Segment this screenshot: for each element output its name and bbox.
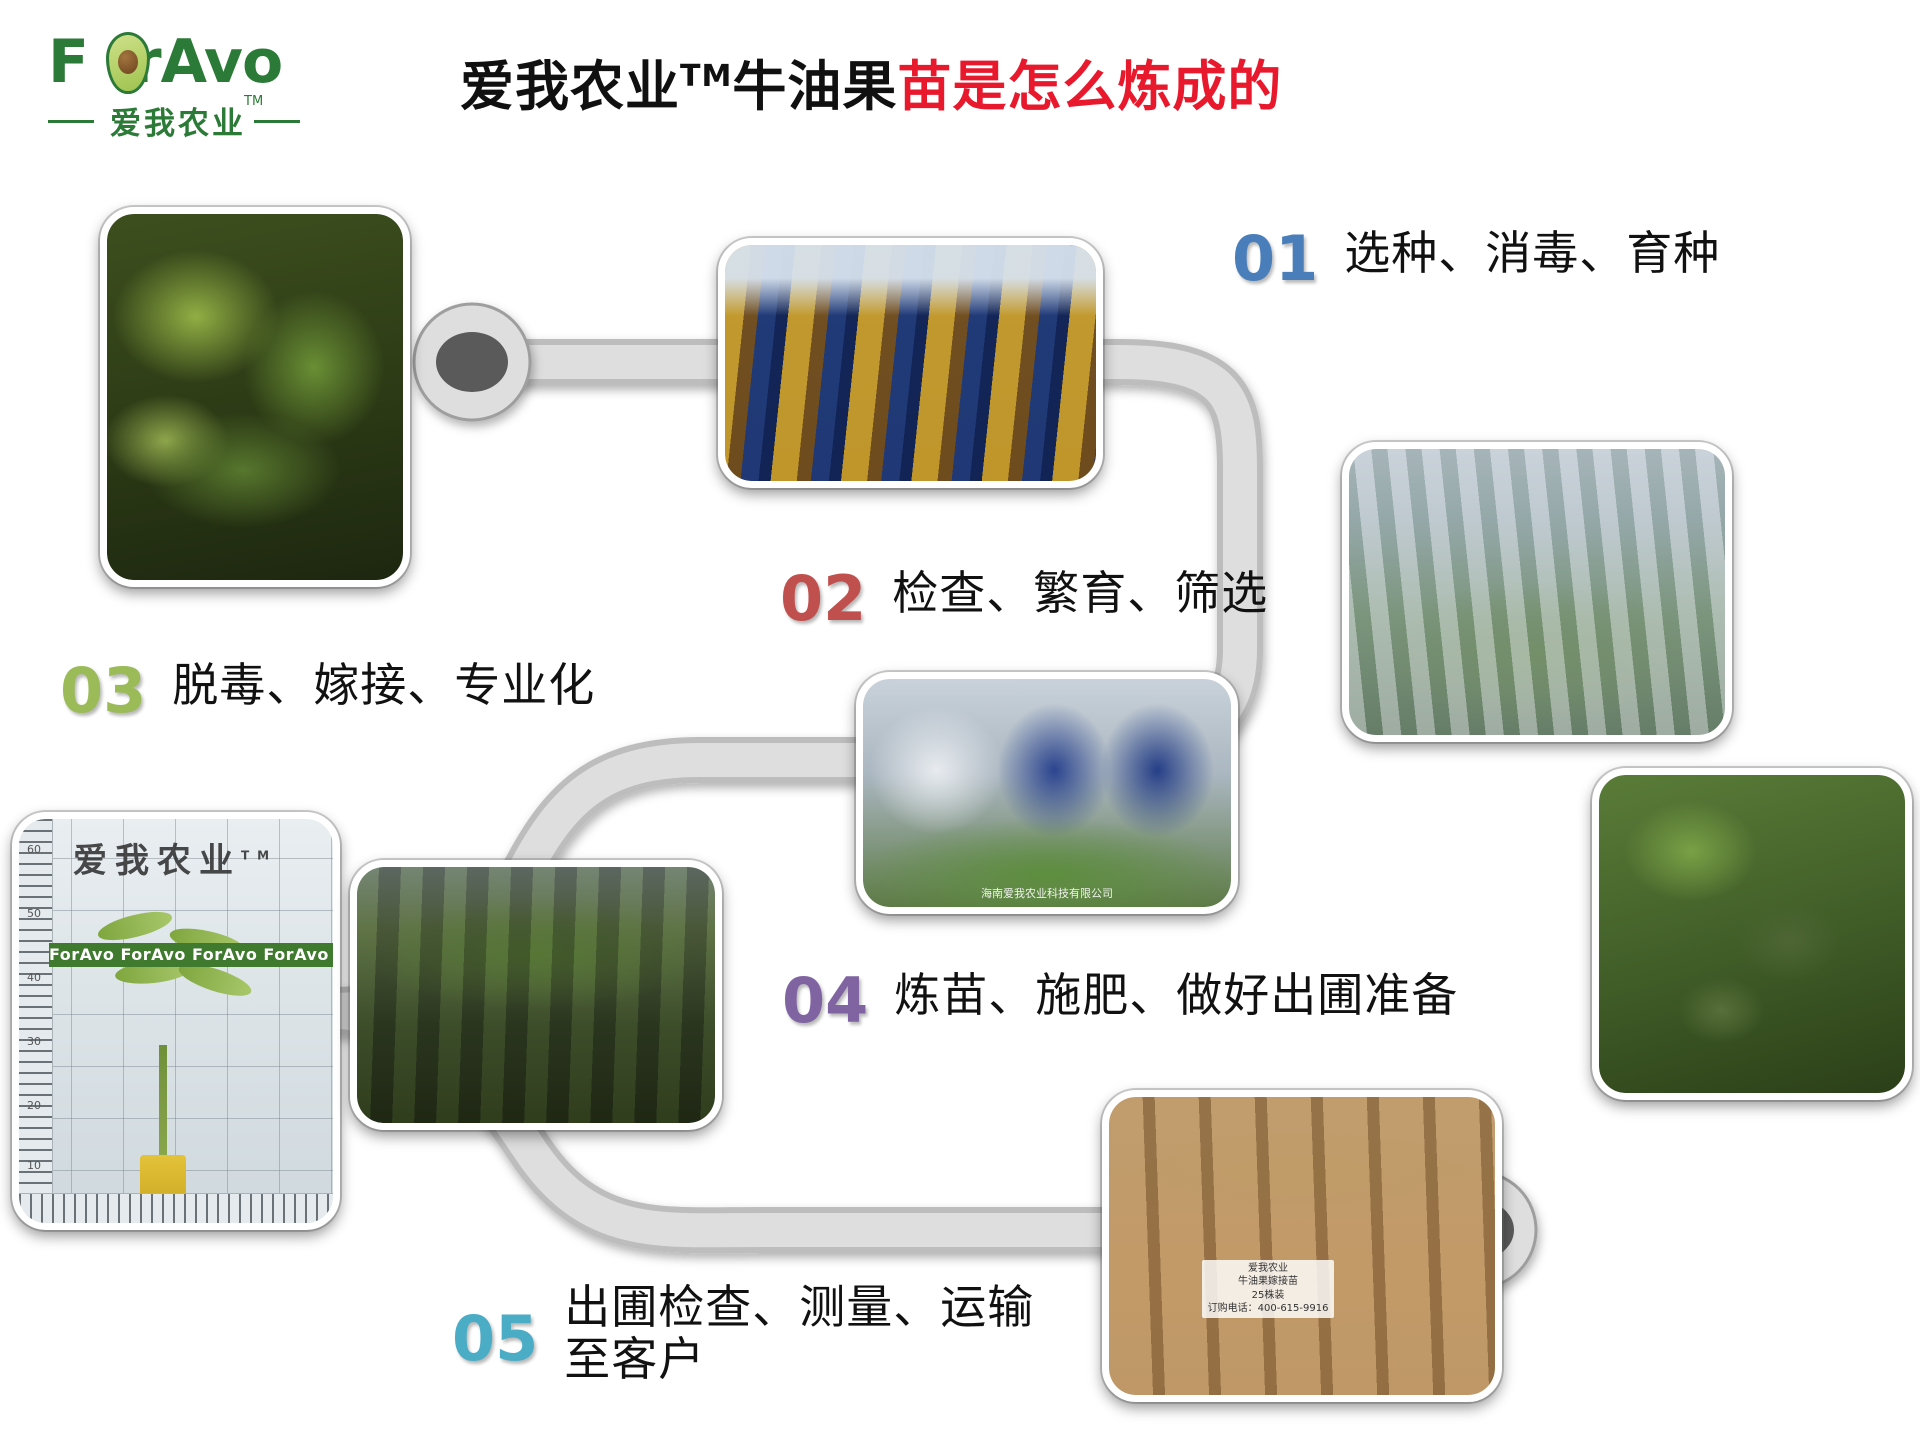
step-05-label-line1: 出圃检查、测量、运输 — [564, 1282, 1034, 1334]
step-01-label: 选种、消毒、育种 — [1344, 228, 1720, 280]
packing-cartons-photo: 爱我农业 牛油果嫁接苗 25株装 订购电话：400-615-9916 — [1102, 1090, 1502, 1402]
step-05-label: 出圃检查、测量、运输 至客户 — [564, 1282, 1034, 1385]
step-03-label: 脱毒、嫁接、专业化 — [172, 660, 595, 712]
seedling-stem — [159, 1045, 167, 1165]
step-04-number: 04 — [782, 970, 868, 1032]
foravo-watermark-band: ForAvo ForAvo ForAvo ForAvo — [49, 943, 333, 967]
seed-trays-photo — [718, 238, 1103, 488]
step-03: 03 脱毒、嫁接、专业化 — [60, 660, 595, 722]
step-05-number: 05 — [452, 1308, 538, 1370]
greenhouse-bagged-rows-photo — [1342, 442, 1732, 742]
inspection-team-photo: 海南爱我农业科技有限公司 — [856, 672, 1238, 914]
step-02-number: 02 — [780, 568, 866, 630]
avocado-flowering-sprig-photo — [100, 207, 410, 587]
step-03-number: 03 — [60, 660, 146, 722]
step-01-number: 01 — [1232, 228, 1318, 290]
infographic-canvas: FrAvo 爱我农业 TM 爱我农业TM牛油果苗是怎么炼成的 — [0, 0, 1920, 1440]
path-start-node — [414, 304, 530, 420]
step-04-label: 炼苗、施肥、做好出圃准备 — [894, 970, 1458, 1022]
ruler-scale-labels: 6050 4030 2010 — [21, 819, 51, 1223]
potted-seedling-rows-photo — [350, 860, 722, 1130]
step-01: 01 选种、消毒、育种 — [1232, 228, 1720, 290]
avocado-fruit-on-tree-photo — [1592, 768, 1912, 1100]
carton-printed-label: 爱我农业 牛油果嫁接苗 25株装 订购电话：400-615-9916 — [1202, 1260, 1335, 1318]
ruler-horizontal — [19, 1193, 333, 1223]
step-04: 04 炼苗、施肥、做好出圃准备 — [782, 970, 1458, 1032]
ruler-photo-watermark: 爱我农业TM — [73, 833, 277, 882]
step-02-label: 检查、繁育、筛选 — [892, 568, 1268, 620]
step-05-label-line2: 至客户 — [564, 1334, 1034, 1386]
step-02: 02 检查、繁育、筛选 — [780, 568, 1268, 630]
photo-watermark: 海南爱我农业科技有限公司 — [863, 885, 1231, 901]
seedling-ruler-photo: 6050 4030 2010 爱我农业TM ForAvo ForAvo ForA… — [12, 812, 340, 1230]
step-05: 05 出圃检查、测量、运输 至客户 — [452, 1282, 1034, 1385]
